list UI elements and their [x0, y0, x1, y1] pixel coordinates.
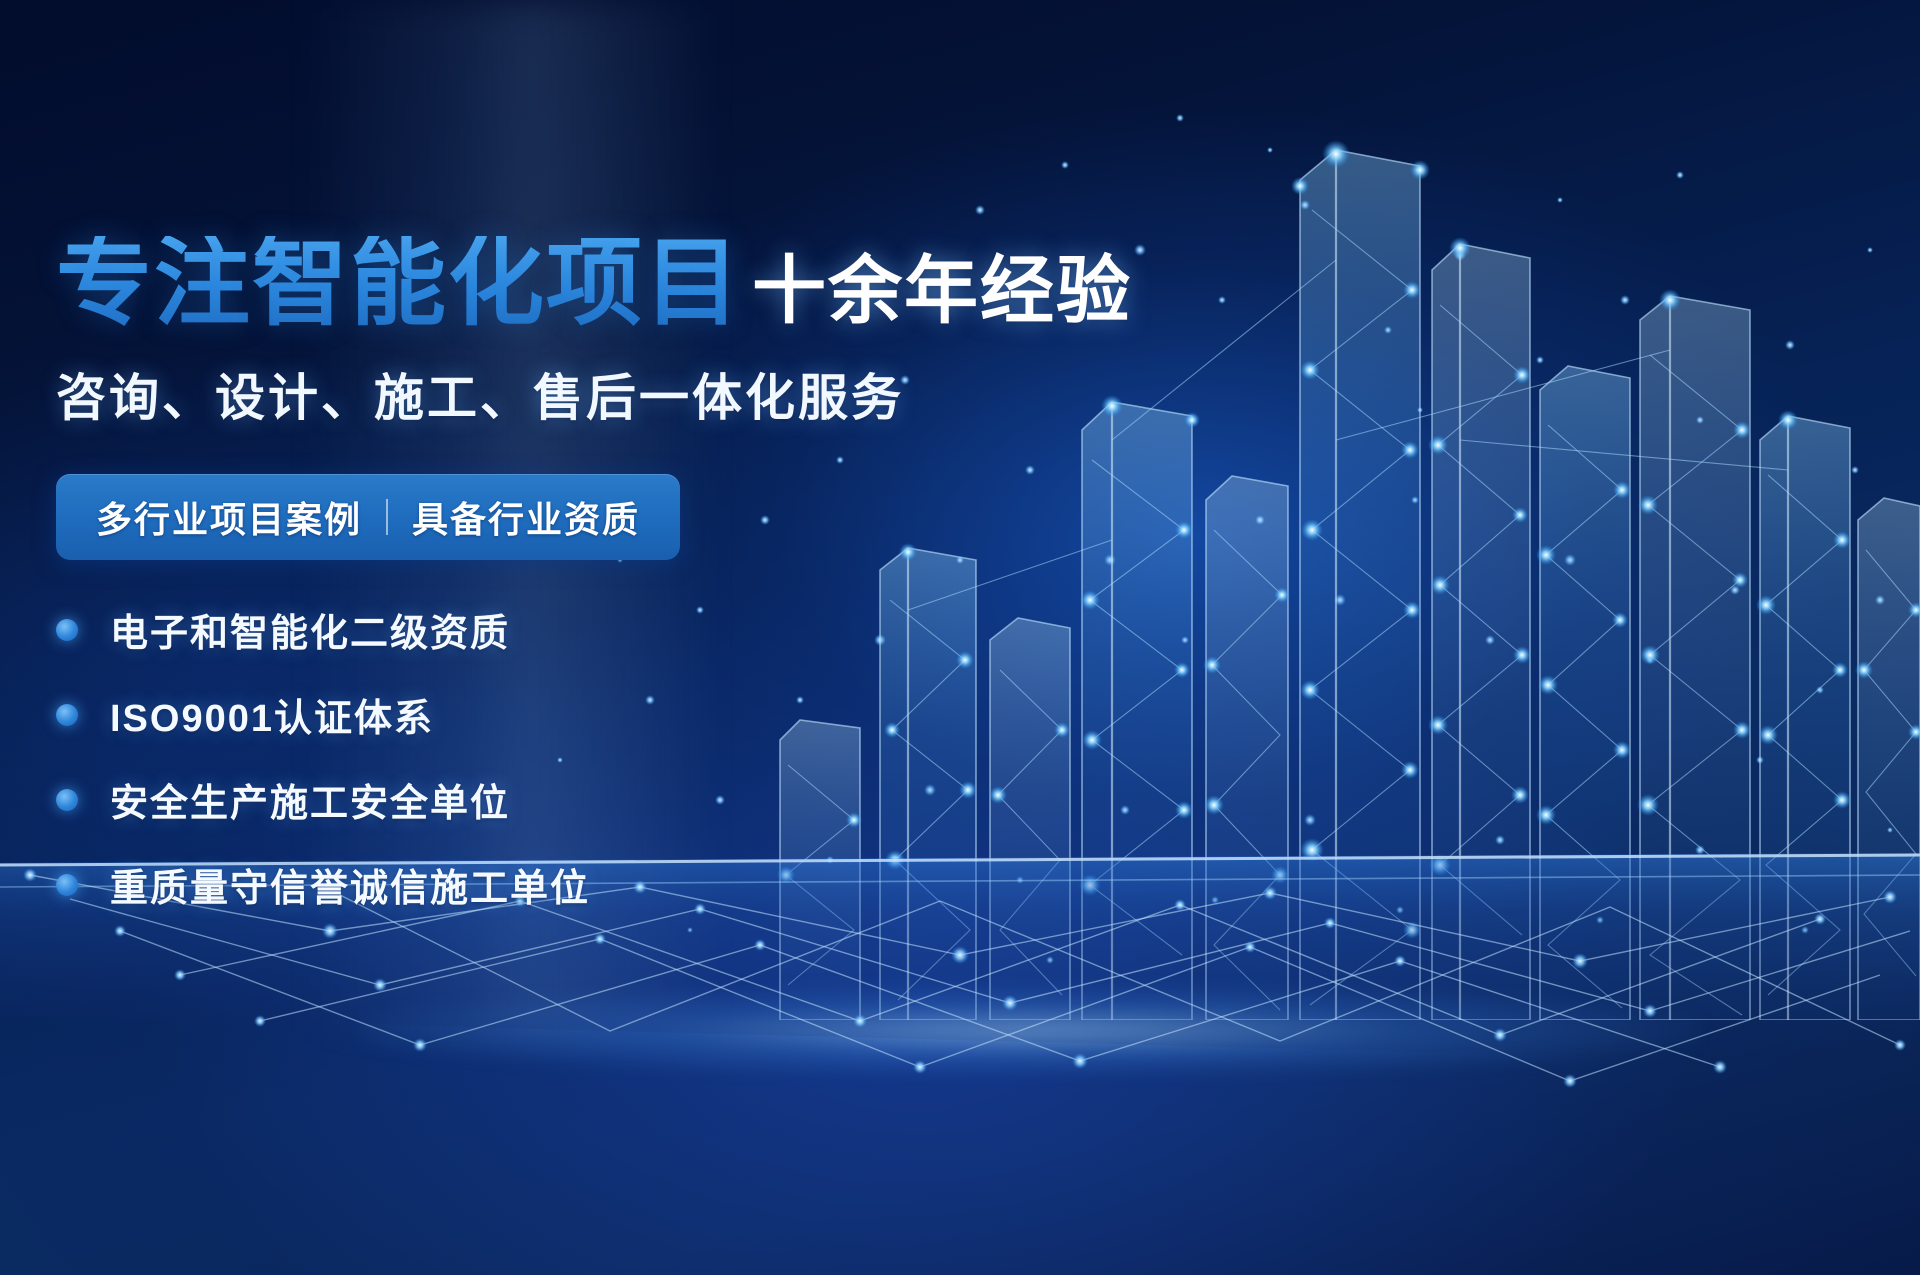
bullet-label: 重质量守信誉诚信施工单位	[110, 857, 590, 912]
badge-right-label: 具备行业资质	[412, 491, 640, 543]
list-item: ISO9001认证体系	[56, 687, 1056, 742]
headline-highlight-text: 十余年经验	[752, 254, 1132, 332]
headline-main-text: 专注智能化项目	[56, 236, 742, 332]
bullet-dot-icon	[56, 619, 78, 641]
subtitle-text: 咨询、设计、施工、售后一体化服务	[56, 358, 1056, 430]
list-item: 安全生产施工安全单位	[56, 772, 1056, 827]
bullet-dot-icon	[56, 704, 78, 726]
list-item: 重质量守信誉诚信施工单位	[56, 857, 1056, 912]
bullet-label: 电子和智能化二级资质	[110, 602, 510, 657]
bullet-dot-icon	[56, 874, 78, 896]
horizon-glow	[360, 985, 1700, 1075]
bullet-dot-icon	[56, 789, 78, 811]
bullet-label: ISO9001认证体系	[110, 687, 434, 742]
badge-divider-line	[386, 499, 388, 535]
qualification-badge[interactable]: 多行业项目案例 具备行业资质	[56, 474, 680, 560]
badge-left-label: 多行业项目案例	[96, 491, 362, 543]
list-item: 电子和智能化二级资质	[56, 602, 1056, 657]
banner-content: 专注智能化项目 十余年经验 咨询、设计、施工、售后一体化服务 多行业项目案例 具…	[56, 236, 1056, 942]
hero-banner: 专注智能化项目 十余年经验 咨询、设计、施工、售后一体化服务 多行业项目案例 具…	[0, 0, 1920, 1275]
bullet-label: 安全生产施工安全单位	[110, 772, 510, 827]
headline: 专注智能化项目 十余年经验	[56, 236, 1056, 332]
credentials-list: 电子和智能化二级资质 ISO9001认证体系 安全生产施工安全单位 重质量守信誉…	[56, 602, 1056, 912]
